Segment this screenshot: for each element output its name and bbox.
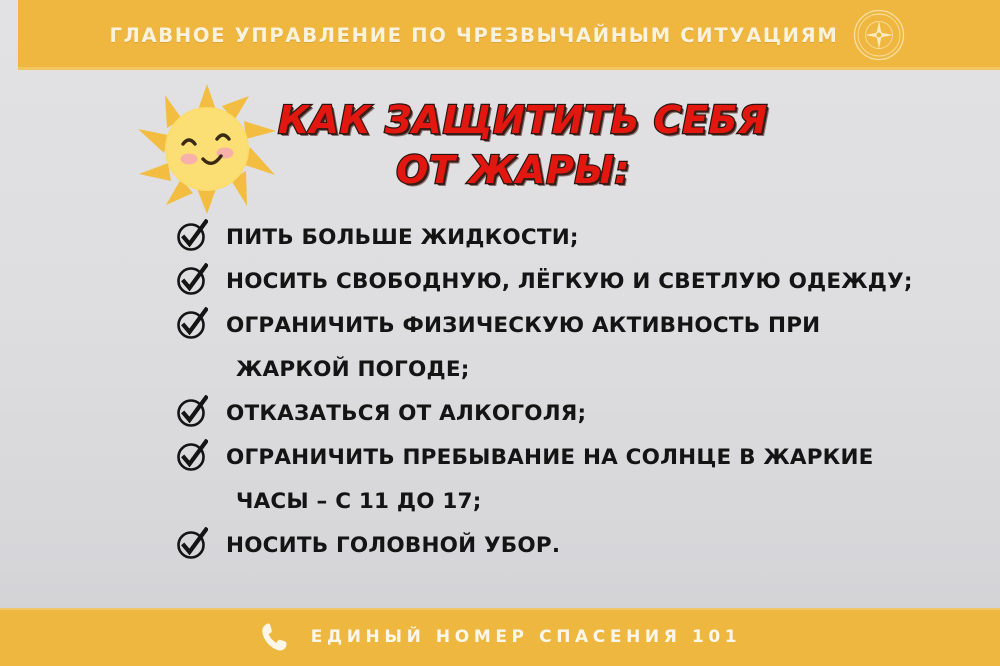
check-circle-icon	[176, 304, 226, 340]
svg-text:• • • •: • • • •	[873, 55, 884, 59]
header-bar: ГЛАВНОЕ УПРАВЛЕНИЕ ПО ЧРЕЗВЫЧАЙНЫМ СИТУА…	[18, 0, 1000, 70]
list-item: ОГРАНИЧИТЬ ПРЕБЫВАНИЕ НА СОЛНЦЕ В ЖАРКИЕ	[176, 436, 976, 480]
list-item-continuation: ЖАРКОЙ ПОГОДЕ;	[176, 348, 976, 392]
poster-canvas: ГЛАВНОЕ УПРАВЛЕНИЕ ПО ЧРЕЗВЫЧАЙНЫМ СИТУА…	[0, 0, 1000, 666]
list-item: ОТКАЗАТЬСЯ ОТ АЛКОГОЛЯ;	[176, 392, 976, 436]
check-circle-icon	[176, 392, 226, 428]
check-circle-icon	[176, 436, 226, 472]
list-item: ОГРАНИЧИТЬ ФИЗИЧЕСКУЮ АКТИВНОСТЬ ПРИ	[176, 304, 976, 348]
list-item-text: ПИТЬ БОЛЬШЕ ЖИДКОСТИ;	[226, 216, 579, 260]
emergency-number-text: ЕДИНЫЙ НОМЕР СПАСЕНИЯ 101	[311, 627, 741, 647]
footer-bar: ЕДИНЫЙ НОМЕР СПАСЕНИЯ 101	[0, 608, 1000, 666]
list-item-text: ОГРАНИЧИТЬ ПРЕБЫВАНИЕ НА СОЛНЦЕ В ЖАРКИЕ	[226, 436, 874, 480]
advice-list: ПИТЬ БОЛЬШЕ ЖИДКОСТИ; НОСИТЬ СВОБОДНУЮ, …	[176, 216, 976, 568]
list-item: НОСИТЬ ГОЛОВНОЙ УБОР.	[176, 524, 976, 568]
title-line-2: ОТ ЖАРЫ:	[278, 146, 748, 195]
list-item-text: ОТКАЗАТЬСЯ ОТ АЛКОГОЛЯ;	[226, 392, 586, 436]
list-item-text: НОСИТЬ ГОЛОВНОЙ УБОР.	[226, 524, 560, 568]
smiling-sun-icon	[133, 83, 281, 215]
list-item-text: ОГРАНИЧИТЬ ФИЗИЧЕСКУЮ АКТИВНОСТЬ ПРИ	[226, 304, 820, 348]
bullet-spacer	[176, 480, 226, 483]
bullet-spacer	[176, 348, 226, 351]
check-circle-icon	[176, 216, 226, 252]
list-item: ПИТЬ БОЛЬШЕ ЖИДКОСТИ;	[176, 216, 976, 260]
list-item-text-continued: ЖАРКОЙ ПОГОДЕ;	[226, 348, 470, 392]
list-item: НОСИТЬ СВОБОДНУЮ, ЛЁГКУЮ И СВЕТЛУЮ ОДЕЖД…	[176, 260, 976, 304]
header-content: ГЛАВНОЕ УПРАВЛЕНИЕ ПО ЧРЕЗВЫЧАЙНЫМ СИТУА…	[109, 9, 904, 61]
list-item-text: НОСИТЬ СВОБОДНУЮ, ЛЁГКУЮ И СВЕТЛУЮ ОДЕЖД…	[226, 260, 913, 304]
poster-title: КАК ЗАЩИТИТЬ СЕБЯ ОТ ЖАРЫ:	[278, 96, 748, 195]
check-circle-icon	[176, 524, 226, 560]
list-item-continuation: ЧАСЫ – С 11 ДО 17;	[176, 480, 976, 524]
title-line-1: КАК ЗАЩИТИТЬ СЕБЯ	[278, 96, 748, 145]
ministry-emergency-seal-icon: • • • • • • • • •	[853, 9, 905, 61]
phone-handset-icon	[259, 621, 289, 653]
svg-text:• • • • •: • • • • •	[872, 13, 886, 17]
check-circle-icon	[176, 260, 226, 296]
header-title: ГЛАВНОЕ УПРАВЛЕНИЕ ПО ЧРЕЗВЫЧАЙНЫМ СИТУА…	[109, 24, 838, 47]
list-item-text-continued: ЧАСЫ – С 11 ДО 17;	[226, 480, 482, 524]
